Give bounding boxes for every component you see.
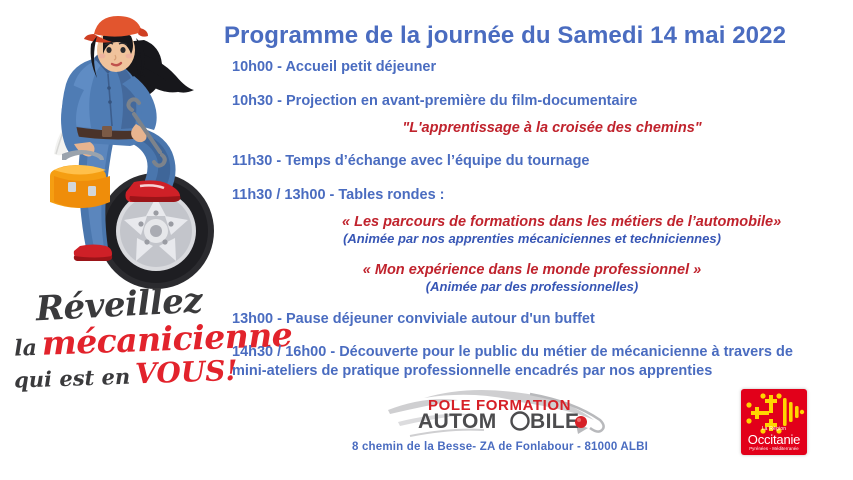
occitanie-sub: Pyrénées - Méditerranée xyxy=(741,447,807,451)
svg-text:AUTOM: AUTOM xyxy=(418,410,497,433)
program-item-6-line-1: 14h30 / 16h00 - Découverte pour le publi… xyxy=(232,343,832,362)
occitanie-wordmark: La Région Occitanie Pyrénées - Méditerra… xyxy=(741,427,807,451)
slogan-line-3-small: qui est en xyxy=(14,364,131,393)
round-table-2-title: « Mon expérience dans le monde professio… xyxy=(232,261,832,279)
program-item-6: 14h30 / 16h00 - Découverte pour le publi… xyxy=(232,343,832,381)
program-item-5: 13h00 - Pause déjeuner conviviale autour… xyxy=(232,310,832,329)
slogan-line-2-small: la xyxy=(14,335,38,362)
program-list: 10h00 - Accueil petit déjeuner 10h30 - P… xyxy=(232,58,832,381)
address-line: 8 chemin de la Besse- ZA de Fonlabour - … xyxy=(300,441,700,453)
occitanie-pre: La Région xyxy=(741,427,807,432)
round-table-2: « Mon expérience dans le monde professio… xyxy=(232,261,832,295)
female-mechanic-illustration xyxy=(8,6,218,306)
pole-formation-automobile-logo: POLE FORMATION AUTOM BILE xyxy=(380,388,610,440)
occitanie-main: Occitanie xyxy=(741,433,807,446)
program-item-2: 10h30 - Projection en avant-première du … xyxy=(232,92,832,111)
program-item-3: 11h30 - Temps d’échange avec l’équipe du… xyxy=(232,152,832,171)
svg-text:BILE: BILE xyxy=(530,410,579,433)
film-title: "L'apprentissage à la croisée des chemin… xyxy=(232,119,832,137)
slogan-block: Réveillez la mécanicienne qui est en VOU… xyxy=(14,288,224,389)
page-title: Programme de la journée du Samedi 14 mai… xyxy=(190,22,820,50)
round-table-1-title: « Les parcours de formations dans les mé… xyxy=(232,213,832,231)
round-table-2-subtitle: (Animée par des professionnelles) xyxy=(232,279,832,295)
poster-canvas: Réveillez la mécanicienne qui est en VOU… xyxy=(0,0,853,480)
program-item-6-line-2: mini-ateliers de pratique professionnell… xyxy=(232,362,832,381)
program-item-4: 11h30 / 13h00 - Tables rondes : xyxy=(232,186,832,205)
round-table-1: « Les parcours de formations dans les mé… xyxy=(232,213,832,247)
region-occitanie-logo: La Région Occitanie Pyrénées - Méditerra… xyxy=(741,389,807,455)
slogan-line-3-big: VOUS! xyxy=(135,354,239,391)
slogan-line-3: qui est en VOUS! xyxy=(14,357,225,392)
round-table-1-subtitle: (Animée par nos apprenties mécaniciennes… xyxy=(232,231,832,247)
program-item-1: 10h00 - Accueil petit déjeuner xyxy=(232,58,832,77)
